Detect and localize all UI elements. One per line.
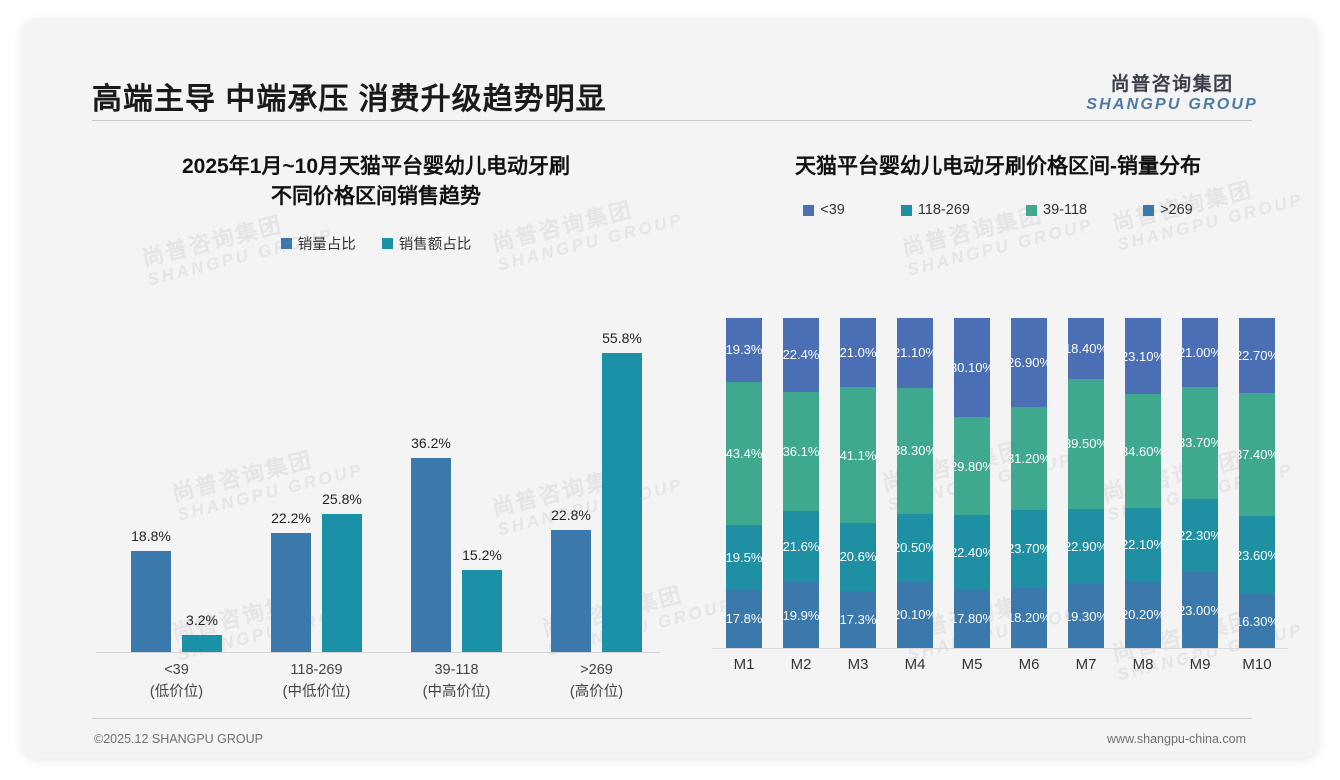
stacked-bar-column[interactable]: 18.40%39.50%22.90%19.30%	[1068, 318, 1104, 648]
stack-segment[interactable]: 21.6%	[783, 511, 819, 582]
stack-segment-label: 16.30%	[1239, 614, 1275, 629]
legend-label: 118-269	[918, 202, 970, 218]
bar-value-label: 3.2%	[186, 612, 218, 628]
stack-segment[interactable]: 23.70%	[1011, 510, 1047, 588]
stack-segment[interactable]: 20.20%	[1125, 581, 1161, 648]
stack-segment[interactable]: 22.4%	[783, 318, 819, 392]
bar[interactable]	[322, 514, 362, 652]
left-chart-panel: 2025年1月~10月天猫平台婴幼儿电动牙刷 不同价格区间销售趋势 销量占比销售…	[66, 130, 686, 700]
stack-segment[interactable]: 43.4%	[726, 382, 762, 525]
legend-swatch-icon	[1026, 205, 1037, 216]
stack-segment[interactable]: 21.0%	[840, 318, 876, 387]
left-chart-title-line2: 不同价格区间销售趋势	[66, 182, 686, 212]
bar-group: 22.2%25.8%	[254, 330, 379, 652]
month-label: M6	[999, 656, 1059, 673]
stack-segment-label: 21.6%	[783, 539, 819, 554]
footer-divider	[92, 718, 1252, 719]
stack-segment-label: 22.10%	[1125, 537, 1161, 552]
stack-segment[interactable]: 33.70%	[1182, 387, 1218, 498]
month-label: M2	[771, 656, 831, 673]
logo-chinese-text: 尚普咨询集团	[1086, 75, 1258, 94]
stacked-bar-column[interactable]: 26.90%31.20%23.70%18.20%	[1011, 318, 1047, 648]
bar-column[interactable]: 36.2%	[411, 330, 451, 652]
stack-segment[interactable]: 23.10%	[1125, 318, 1161, 394]
stack-segment[interactable]: 31.20%	[1011, 407, 1047, 510]
legend-label: 销售额占比	[399, 233, 472, 254]
category-label-tier: (低价位)	[102, 682, 252, 704]
bar[interactable]	[182, 635, 222, 652]
category-label: 118-269(中低价位)	[242, 660, 392, 704]
bar-value-label: 55.8%	[602, 330, 642, 346]
bar[interactable]	[551, 530, 591, 652]
legend-item-0[interactable]: 销量占比	[281, 233, 356, 254]
footer-copyright: ©2025.12 SHANGPU GROUP	[94, 732, 263, 746]
stack-segment-label: 18.20%	[1011, 610, 1047, 625]
bar-column[interactable]: 22.2%	[271, 330, 311, 652]
category-label-range: >269	[522, 660, 672, 682]
stack-segment-label: 17.80%	[954, 611, 990, 626]
stacked-bar-column[interactable]: 22.4%36.1%21.6%19.9%	[783, 318, 819, 648]
legend-swatch-icon	[281, 238, 292, 249]
legend-item-2[interactable]: 39-118	[1026, 202, 1087, 218]
legend-item-3[interactable]: >269	[1143, 202, 1193, 218]
page-title: 高端主导 中端承压 消费升级趋势明显	[92, 74, 607, 118]
stack-segment-label: 20.20%	[1125, 607, 1161, 622]
logo-english-text: SHANGPU GROUP	[1086, 97, 1258, 113]
stacked-bar-plot-area: 19.3%43.4%19.5%17.8%22.4%36.1%21.6%19.9%…	[712, 318, 1288, 648]
stack-segment-label: 33.70%	[1182, 435, 1218, 450]
stack-segment[interactable]: 22.10%	[1125, 508, 1161, 581]
stack-segment-label: 17.3%	[840, 612, 876, 627]
stack-segment[interactable]: 20.50%	[897, 514, 933, 582]
company-logo: 尚普咨询集团 SHANGPU GROUP	[1086, 75, 1258, 113]
stack-segment[interactable]: 22.70%	[1239, 318, 1275, 393]
stack-segment-label: 41.1%	[840, 448, 876, 463]
slide: 高端主导 中端承压 消费升级趋势明显 尚普咨询集团 SHANGPU GROUP …	[22, 18, 1318, 758]
footer-website: www.shangpu-china.com	[1107, 732, 1246, 746]
stack-segment-label: 23.00%	[1182, 603, 1218, 618]
stacked-bar-column[interactable]: 30.10%29.80%22.40%17.80%	[954, 318, 990, 648]
category-label: >269(高价位)	[522, 660, 672, 704]
legend-label: <39	[820, 202, 845, 218]
stack-segment-label: 31.20%	[1011, 451, 1047, 466]
stack-segment[interactable]: 23.00%	[1182, 572, 1218, 648]
right-chart-title: 天猫平台婴幼儿电动牙刷价格区间-销量分布	[698, 130, 1298, 182]
stack-segment[interactable]: 34.60%	[1125, 394, 1161, 508]
bar[interactable]	[462, 570, 502, 652]
category-label-range: 118-269	[242, 660, 392, 682]
right-chart-category-labels: M1M2M3M4M5M6M7M8M9M10	[712, 656, 1288, 686]
stack-segment-label: 21.0%	[840, 345, 876, 360]
stack-segment-label: 23.10%	[1125, 349, 1161, 364]
legend-swatch-icon	[901, 205, 912, 216]
category-label-range: 39-118	[382, 660, 532, 682]
stacked-bar-column[interactable]: 22.70%37.40%23.60%16.30%	[1239, 318, 1275, 648]
stack-segment-label: 36.1%	[783, 444, 819, 459]
bar-group: 18.8%3.2%	[114, 330, 239, 652]
stack-segment[interactable]: 20.10%	[897, 582, 933, 648]
bar-group: 36.2%15.2%	[394, 330, 519, 652]
stack-segment[interactable]: 41.1%	[840, 387, 876, 523]
stack-segment-label: 23.60%	[1239, 548, 1275, 563]
stacked-bar-chart: 19.3%43.4%19.5%17.8%22.4%36.1%21.6%19.9%…	[712, 318, 1288, 700]
stack-segment-label: 34.60%	[1125, 444, 1161, 459]
legend-item-1[interactable]: 118-269	[901, 202, 970, 218]
bar-group: 22.8%55.8%	[534, 330, 659, 652]
bar-value-label: 22.2%	[271, 510, 311, 526]
legend-swatch-icon	[1143, 205, 1154, 216]
stack-segment[interactable]: 22.30%	[1182, 499, 1218, 573]
bar-column[interactable]: 18.8%	[131, 330, 171, 652]
stacked-bar-column[interactable]: 19.3%43.4%19.5%17.8%	[726, 318, 762, 648]
stack-segment[interactable]: 30.10%	[954, 318, 990, 417]
bar[interactable]	[411, 458, 451, 652]
stack-segment[interactable]: 26.90%	[1011, 318, 1047, 407]
grouped-bar-plot-area: 18.8%3.2%22.2%25.8%36.2%15.2%22.8%55.8%	[88, 330, 668, 652]
grouped-bar-chart: 18.8%3.2%22.2%25.8%36.2%15.2%22.8%55.8% …	[88, 330, 668, 700]
bar-column[interactable]: 25.8%	[322, 330, 362, 652]
right-chart-x-axis	[712, 648, 1288, 649]
stacked-bar-column[interactable]: 21.00%33.70%22.30%23.00%	[1182, 318, 1218, 648]
bar-value-label: 36.2%	[411, 435, 451, 451]
stack-segment[interactable]: 29.80%	[954, 417, 990, 515]
right-chart-panel: 天猫平台婴幼儿电动牙刷价格区间-销量分布 <39118-26939-118>26…	[698, 130, 1298, 700]
left-chart-category-labels: <39(低价位)118-269(中低价位)39-118(中高价位)>269(高价…	[88, 660, 668, 720]
bar[interactable]	[602, 353, 642, 652]
stack-segment-label: 21.10%	[897, 345, 933, 360]
category-label: 39-118(中高价位)	[382, 660, 532, 704]
right-chart-legend: <39118-26939-118>269	[698, 202, 1298, 218]
stack-segment[interactable]: 18.40%	[1068, 318, 1104, 379]
stack-segment[interactable]: 19.30%	[1068, 584, 1104, 648]
header-divider	[92, 120, 1252, 121]
stack-segment[interactable]: 23.60%	[1239, 516, 1275, 594]
category-label-range: <39	[102, 660, 252, 682]
bar-value-label: 22.8%	[551, 507, 591, 523]
bar-value-label: 15.2%	[462, 547, 502, 563]
category-label: <39(低价位)	[102, 660, 252, 704]
stack-segment-label: 43.4%	[726, 446, 762, 461]
stack-segment[interactable]: 22.90%	[1068, 509, 1104, 584]
bar-column[interactable]: 3.2%	[182, 330, 222, 652]
stack-segment-label: 22.70%	[1239, 348, 1275, 363]
stack-segment-label: 26.90%	[1011, 355, 1047, 370]
bar-value-label: 18.8%	[131, 528, 171, 544]
bar[interactable]	[131, 551, 171, 652]
stack-segment[interactable]: 38.30%	[897, 388, 933, 514]
stacked-bar-column[interactable]: 23.10%34.60%22.10%20.20%	[1125, 318, 1161, 648]
stack-segment[interactable]: 37.40%	[1239, 393, 1275, 516]
month-label: M8	[1113, 656, 1173, 673]
left-chart-legend: 销量占比销售额占比	[66, 233, 686, 254]
stack-segment-label: 20.6%	[840, 549, 876, 564]
stack-segment-label: 39.50%	[1068, 436, 1104, 451]
legend-swatch-icon	[803, 205, 814, 216]
stack-segment-label: 17.8%	[726, 611, 762, 626]
bar-column[interactable]: 55.8%	[602, 330, 642, 652]
stack-segment[interactable]: 16.30%	[1239, 594, 1275, 648]
stack-segment-label: 22.30%	[1182, 528, 1218, 543]
stack-segment-label: 23.70%	[1011, 541, 1047, 556]
stack-segment[interactable]: 17.8%	[726, 589, 762, 648]
left-chart-title-line1: 2025年1月~10月天猫平台婴幼儿电动牙刷	[182, 155, 570, 178]
stacked-bar-column[interactable]: 21.10%38.30%20.50%20.10%	[897, 318, 933, 648]
stack-segment-label: 20.10%	[897, 607, 933, 622]
left-chart-x-axis	[96, 652, 660, 653]
stack-segment-label: 22.90%	[1068, 539, 1104, 554]
stack-segment-label: 20.50%	[897, 540, 933, 555]
stack-segment[interactable]: 36.1%	[783, 392, 819, 511]
month-label: M7	[1056, 656, 1116, 673]
stack-segment[interactable]: 19.5%	[726, 525, 762, 589]
stack-segment[interactable]: 17.80%	[954, 589, 990, 648]
stack-segment-label: 29.80%	[954, 459, 990, 474]
stack-segment[interactable]: 20.6%	[840, 523, 876, 591]
month-label: M3	[828, 656, 888, 673]
month-label: M10	[1227, 656, 1287, 673]
bar-value-label: 25.8%	[322, 491, 362, 507]
stack-segment-label: 21.00%	[1182, 345, 1218, 360]
stack-segment[interactable]: 22.40%	[954, 515, 990, 589]
stack-segment-label: 18.40%	[1068, 341, 1104, 356]
bar[interactable]	[271, 533, 311, 652]
stack-segment[interactable]: 39.50%	[1068, 379, 1104, 509]
month-label: M9	[1170, 656, 1230, 673]
stack-segment-label: 37.40%	[1239, 447, 1275, 462]
stack-segment-label: 19.3%	[726, 342, 762, 357]
slide-header: 高端主导 中端承压 消费升级趋势明显 尚普咨询集团 SHANGPU GROUP	[22, 18, 1318, 118]
category-label-tier: (中低价位)	[242, 682, 392, 704]
legend-label: 39-118	[1043, 202, 1087, 218]
stacked-bar-column[interactable]: 21.0%41.1%20.6%17.3%	[840, 318, 876, 648]
stack-segment-label: 19.30%	[1068, 609, 1104, 624]
month-label: M1	[714, 656, 774, 673]
stack-segment-label: 30.10%	[954, 360, 990, 375]
legend-swatch-icon	[382, 238, 393, 249]
legend-label: >269	[1160, 202, 1193, 218]
stack-segment[interactable]: 19.9%	[783, 582, 819, 648]
stack-segment-label: 38.30%	[897, 443, 933, 458]
legend-item-0[interactable]: <39	[803, 202, 845, 218]
stack-segment-label: 19.5%	[726, 550, 762, 565]
stack-segment[interactable]: 17.3%	[840, 591, 876, 648]
bar-column[interactable]: 22.8%	[551, 330, 591, 652]
stack-segment-label: 19.9%	[783, 608, 819, 623]
legend-item-1[interactable]: 销售额占比	[382, 233, 472, 254]
stack-segment[interactable]: 21.10%	[897, 318, 933, 388]
month-label: M5	[942, 656, 1002, 673]
month-label: M4	[885, 656, 945, 673]
stack-segment-label: 22.40%	[954, 545, 990, 560]
legend-label: 销量占比	[298, 233, 356, 254]
stack-segment[interactable]: 18.20%	[1011, 588, 1047, 648]
bar-column[interactable]: 15.2%	[462, 330, 502, 652]
category-label-tier: (高价位)	[522, 682, 672, 704]
stack-segment[interactable]: 21.00%	[1182, 318, 1218, 387]
stack-segment[interactable]: 19.3%	[726, 318, 762, 382]
left-chart-title: 2025年1月~10月天猫平台婴幼儿电动牙刷 不同价格区间销售趋势	[66, 130, 686, 213]
stack-segment-label: 22.4%	[783, 347, 819, 362]
category-label-tier: (中高价位)	[382, 682, 532, 704]
